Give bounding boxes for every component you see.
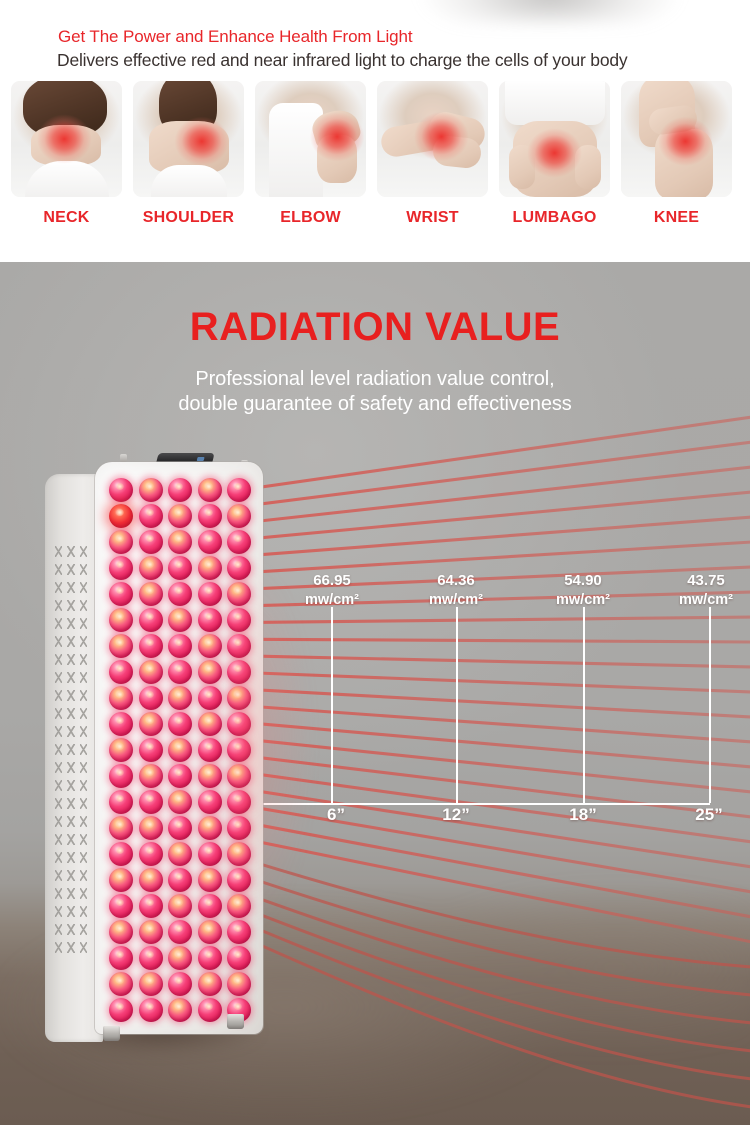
irradiance-value: 43.75 mw/cm² <box>647 571 750 609</box>
product-page: Get The Power and Enhance Health From Li… <box>0 0 750 1125</box>
lumbago-photo <box>499 81 610 197</box>
irradiance-unit: mw/cm² <box>556 592 610 608</box>
irradiance-unit: mw/cm² <box>679 592 733 608</box>
distance-label: 12” <box>411 805 501 825</box>
tick-mark <box>331 607 333 803</box>
wrist-photo <box>377 81 488 197</box>
led-array <box>109 478 251 1022</box>
body-area-label: SHOULDER <box>143 210 234 226</box>
page-subheadline: Delivers effective red and near infrared… <box>57 50 627 71</box>
radiation-value-section: RADIATION VALUE Professional level radia… <box>0 262 750 1125</box>
ventilation-grille <box>55 546 87 976</box>
irradiance-number: 43.75 <box>687 572 725 589</box>
tick-mark <box>583 607 585 803</box>
irradiance-unit: mw/cm² <box>429 592 483 608</box>
body-area-card-shoulder[interactable]: SHOULDER <box>133 81 244 199</box>
irradiance-value: 64.36 mw/cm² <box>397 571 515 609</box>
device-foot <box>227 1014 244 1029</box>
elbow-photo <box>255 81 366 197</box>
tick-mark <box>709 607 711 803</box>
body-area-label: KNEE <box>654 210 699 226</box>
irradiance-number: 66.95 <box>313 572 351 589</box>
irradiance-value: 54.90 mw/cm² <box>524 571 642 609</box>
body-area-label: LUMBAGO <box>512 210 596 226</box>
body-area-label: NECK <box>43 210 89 226</box>
device-foot <box>103 1026 120 1041</box>
irradiance-value: 66.95 mw/cm² <box>273 571 391 609</box>
body-area-card-neck[interactable]: NECK <box>11 81 122 199</box>
body-area-label: WRIST <box>406 210 459 226</box>
led-front-face <box>95 462 263 1034</box>
knee-photo <box>621 81 732 197</box>
body-area-card-knee[interactable]: KNEE <box>621 81 732 199</box>
body-area-card-lumbago[interactable]: LUMBAGO <box>499 81 610 199</box>
body-area-thumbnail-strip: NECK SHOULDER ELBOW <box>11 81 739 199</box>
neck-photo <box>11 81 122 197</box>
top-blur-artifact <box>420 0 680 24</box>
irradiance-unit: mw/cm² <box>305 592 359 608</box>
body-area-card-wrist[interactable]: WRIST <box>377 81 488 199</box>
screw-icon <box>120 454 127 462</box>
tick-mark <box>456 607 458 803</box>
body-area-label: ELBOW <box>280 210 341 226</box>
shoulder-photo <box>133 81 244 197</box>
benefits-section: Get The Power and Enhance Health From Li… <box>0 0 750 262</box>
distance-label: 25” <box>664 805 750 825</box>
page-headline: Get The Power and Enhance Health From Li… <box>58 27 412 47</box>
irradiance-number: 54.90 <box>564 572 602 589</box>
body-area-card-elbow[interactable]: ELBOW <box>255 81 366 199</box>
distance-label: 18” <box>538 805 628 825</box>
irradiance-number: 64.36 <box>437 572 475 589</box>
led-therapy-panel[interactable] <box>45 444 270 1044</box>
distance-label: 6” <box>291 805 381 825</box>
